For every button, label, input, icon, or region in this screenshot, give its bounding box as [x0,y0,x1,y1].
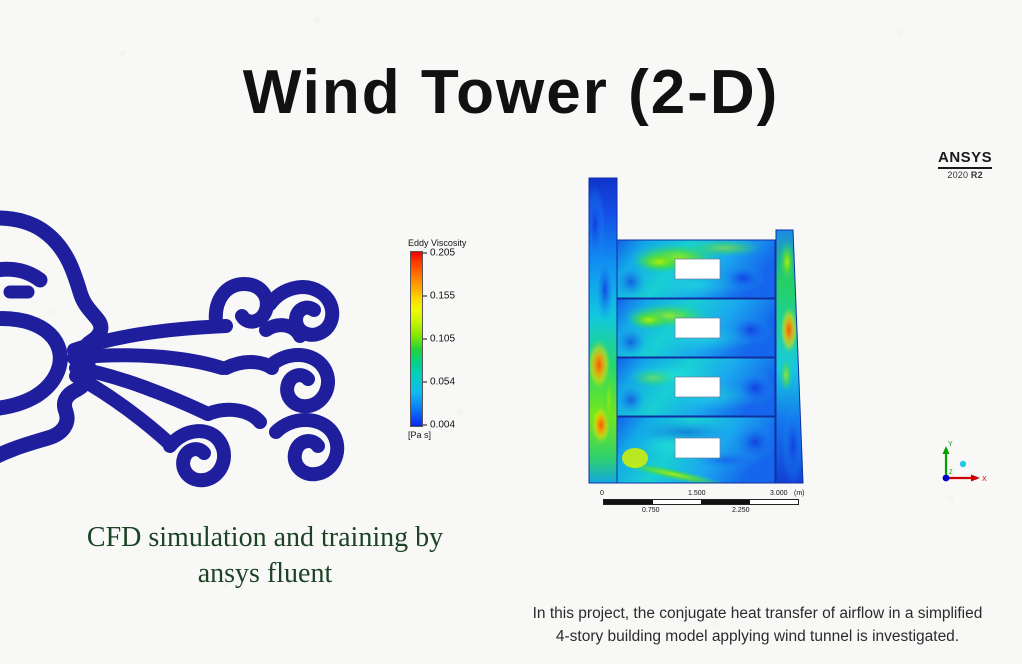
ansys-version-text: 2020 R2 [938,170,992,180]
scale-seg-2 [653,500,702,504]
legend-tick-0: 0.205 [423,248,455,259]
legend-tick-2: 0.105 [423,334,455,345]
scale-label-2250: 2.250 [732,507,750,514]
scale-bar-top-labels: 0 1.500 3.000 (m) [598,490,806,499]
legend-units: [Pa s] [408,430,488,440]
legend-tick-label: 0.205 [430,248,455,259]
legend-title: Eddy Viscosity [408,238,488,248]
scale-label-0750: 0.750 [642,507,660,514]
cfd-contour-plot [575,170,820,515]
caption-line-2: ansys fluent [40,556,490,592]
tick-dash [423,339,427,340]
axis-triad: Y X Z [935,438,995,490]
scale-seg-3 [701,500,750,504]
ansys-year: 2020 [947,170,968,180]
scale-label-0: 0 [600,490,604,497]
tick-dash [423,382,427,383]
cfd-caption: CFD simulation and training by ansys flu… [40,520,490,593]
page-title: Wind Tower (2-D) [0,62,1022,124]
scale-bar-bottom-labels: 0.750 2.250 [598,507,806,516]
scale-units: (m) [794,490,805,497]
legend-tick-label: 0.155 [430,291,455,302]
legend-tick-3: 0.054 [423,377,455,388]
scale-seg-4 [750,500,799,504]
scale-bar-track [603,499,799,505]
legend-tick-label: 0.004 [430,420,455,431]
triad-z-label: Z [949,470,953,476]
description-line-2: 4-story building model applying wind tun… [500,625,1015,648]
tick-dash [423,296,427,297]
scale-label-1500: 1.500 [688,490,706,497]
triad-y-label: Y [948,441,953,448]
colorbar-legend: Eddy Viscosity 0.205 0.155 0.105 0.054 0… [408,238,488,440]
colorbar-gradient [410,251,423,427]
wind-blowing-face-icon [0,200,370,490]
legend-body: 0.205 0.155 0.105 0.054 0.004 [408,251,488,427]
ansys-logo: ANSYS 2020 R2 [938,150,992,180]
legend-tick-label: 0.105 [430,334,455,345]
legend-tick-label: 0.054 [430,377,455,388]
project-description: In this project, the conjugate heat tran… [500,602,1015,649]
scale-seg-1 [604,500,653,504]
tick-dash [423,253,427,254]
legend-tick-4: 0.004 [423,420,455,431]
scale-bar: 0 1.500 3.000 (m) 0.750 2.250 [598,490,806,514]
scale-label-3000: 3.000 [770,490,788,497]
caption-line-1: CFD simulation and training by [40,520,490,556]
ansys-brand-text: ANSYS [938,150,992,169]
ansys-release: R2 [971,170,983,180]
description-line-1: In this project, the conjugate heat tran… [500,602,1015,625]
tick-dash [423,425,427,426]
legend-tick-1: 0.155 [423,291,455,302]
cfd-right-duct [776,230,804,485]
cfd-left-duct [585,178,617,483]
triad-x-label: X [982,476,987,483]
